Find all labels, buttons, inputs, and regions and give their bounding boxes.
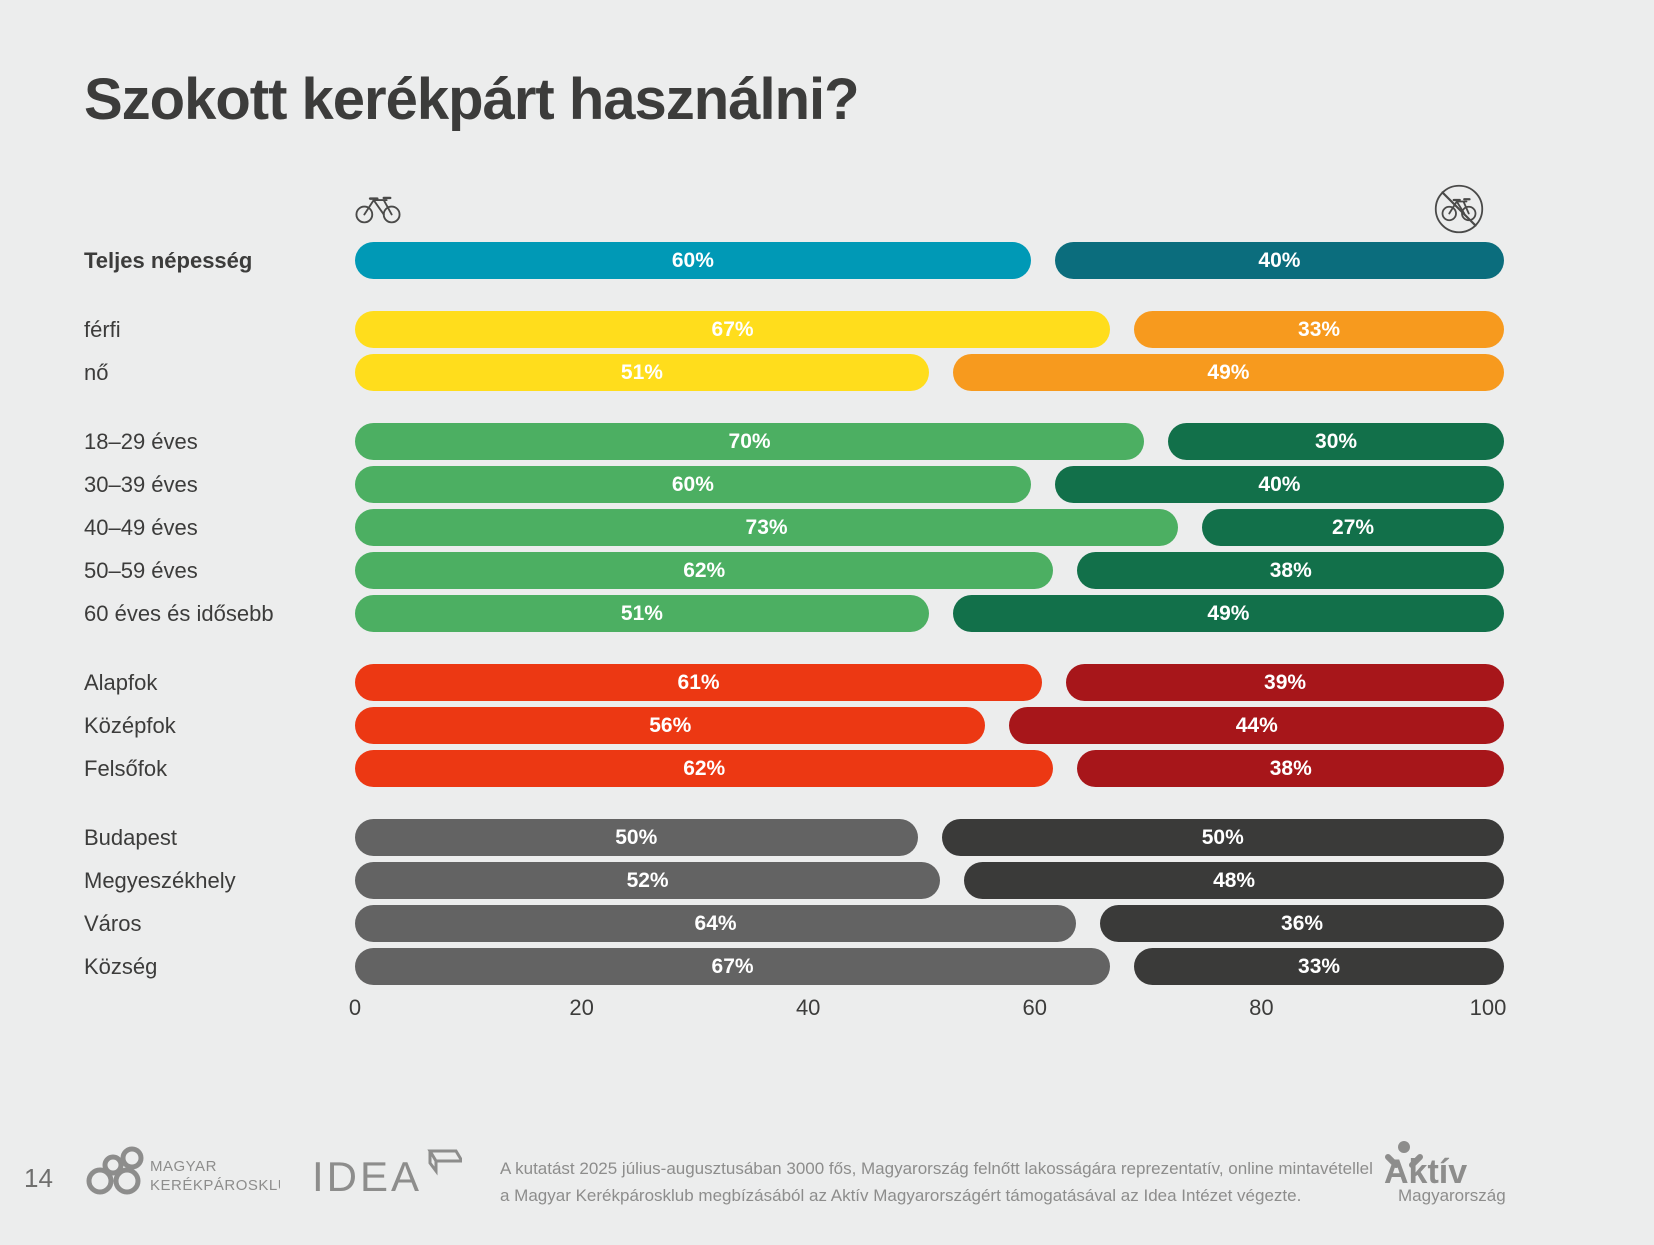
row-label-nem-1: nő xyxy=(84,354,346,391)
bicycle-icon xyxy=(355,189,401,227)
bar-rows: Teljes népesség60%40%férfi67%33%nő51%49%… xyxy=(84,242,1504,991)
page-title: Szokott kerékpárt használni? xyxy=(84,66,859,133)
bar-segment-no: 48% xyxy=(964,862,1504,899)
svg-text:MAGYAR: MAGYAR xyxy=(150,1158,217,1175)
stacked-bar: 60%40% xyxy=(355,466,1504,503)
bar-segment-yes: 61% xyxy=(355,664,1042,701)
x-axis-tick: 0 xyxy=(349,995,361,1021)
bar-segment-yes: 67% xyxy=(355,311,1110,348)
row-label-nem-0: férfi xyxy=(84,311,346,348)
stacked-bar: 62%38% xyxy=(355,552,1504,589)
bar-segment-no: 38% xyxy=(1077,750,1504,787)
row-label-eletkor-4: 60 éves és idősebb xyxy=(84,595,346,632)
bar-segment-no: 33% xyxy=(1134,311,1504,348)
page-number: 14 xyxy=(24,1163,53,1194)
bar-segment-no: 33% xyxy=(1134,948,1504,985)
idea-logo: IDEA xyxy=(312,1147,462,1201)
row-label-iskolai-vegzettseg-1: Középfok xyxy=(84,707,346,744)
row-label-eletkor-3: 50–59 éves xyxy=(84,552,346,589)
bar-segment-yes: 51% xyxy=(355,595,929,632)
stacked-bar: 56%44% xyxy=(355,707,1504,744)
bar-segment-no: 49% xyxy=(953,354,1504,391)
bar-segment-no: 30% xyxy=(1168,423,1504,460)
x-axis-tick: 100 xyxy=(1470,995,1507,1021)
x-axis-tick: 20 xyxy=(569,995,593,1021)
svg-text:Magyarország: Magyarország xyxy=(1398,1186,1506,1205)
bar-segment-yes: 64% xyxy=(355,905,1076,942)
bar-segment-no: 49% xyxy=(953,595,1504,632)
bar-segment-yes: 73% xyxy=(355,509,1178,546)
bar-segment-yes: 70% xyxy=(355,423,1144,460)
bar-segment-yes: 62% xyxy=(355,750,1053,787)
bar-row: nő51%49% xyxy=(84,354,1504,391)
bar-row: 30–39 éves60%40% xyxy=(84,466,1504,503)
bar-segment-no: 44% xyxy=(1009,707,1504,744)
stacked-bar: 62%38% xyxy=(355,750,1504,787)
bar-row: Megyeszékhely52%48% xyxy=(84,862,1504,899)
x-axis-tick: 60 xyxy=(1023,995,1047,1021)
stacked-bar: 60%40% xyxy=(355,242,1504,279)
bar-row: Középfok56%44% xyxy=(84,707,1504,744)
bar-row: Teljes népesség60%40% xyxy=(84,242,1504,279)
bar-row: 50–59 éves62%38% xyxy=(84,552,1504,589)
x-axis-tick: 40 xyxy=(796,995,820,1021)
bar-segment-no: 27% xyxy=(1202,509,1504,546)
stacked-bar: 52%48% xyxy=(355,862,1504,899)
row-label-eletkor-2: 40–49 éves xyxy=(84,509,346,546)
slide: Szokott kerékpárt használni? Telj xyxy=(0,0,1654,1245)
stacked-bar: 73%27% xyxy=(355,509,1504,546)
magyar-kerekparosklub-logo: MAGYAR KERÉKPÁROSKLUB xyxy=(80,1145,280,1201)
bar-segment-no: 36% xyxy=(1100,905,1504,942)
row-label-telepulestipus-0: Budapest xyxy=(84,819,346,856)
stacked-bar: 51%49% xyxy=(355,595,1504,632)
aktiv-magyarorszag-logo: Aktív Magyarország xyxy=(1372,1139,1532,1205)
footer: 14 MAGYAR KERÉKPÁROSKLUB IDEA xyxy=(0,1115,1654,1245)
bar-segment-yes: 52% xyxy=(355,862,940,899)
bar-row: Budapest50%50% xyxy=(84,819,1504,856)
bar-row: Község67%33% xyxy=(84,948,1504,985)
stacked-bar: 50%50% xyxy=(355,819,1504,856)
bar-segment-yes: 67% xyxy=(355,948,1110,985)
row-label-iskolai-vegzettseg-2: Felsőfok xyxy=(84,750,346,787)
row-label-iskolai-vegzettseg-0: Alapfok xyxy=(84,664,346,701)
bar-row: férfi67%33% xyxy=(84,311,1504,348)
chart-container: Teljes népesség60%40%férfi67%33%nő51%49%… xyxy=(84,180,1504,1010)
bar-row: 60 éves és idősebb51%49% xyxy=(84,595,1504,632)
bar-segment-no: 50% xyxy=(942,819,1505,856)
bar-segment-no: 38% xyxy=(1077,552,1504,589)
bar-segment-yes: 50% xyxy=(355,819,918,856)
stacked-bar: 70%30% xyxy=(355,423,1504,460)
stacked-bar: 64%36% xyxy=(355,905,1504,942)
stacked-bar: 51%49% xyxy=(355,354,1504,391)
bar-row: 18–29 éves70%30% xyxy=(84,423,1504,460)
x-axis: 020406080100 xyxy=(355,995,1488,1035)
stacked-bar: 67%33% xyxy=(355,311,1504,348)
disclaimer-line-2: a Magyar Kerékpárosklub megbízásából az … xyxy=(500,1182,1350,1209)
svg-text:KERÉKPÁROSKLUB: KERÉKPÁROSKLUB xyxy=(150,1177,280,1194)
svg-text:IDEA: IDEA xyxy=(312,1153,422,1200)
row-label-telepulestipus-2: Város xyxy=(84,905,346,942)
bar-row: Felsőfok62%38% xyxy=(84,750,1504,787)
bar-segment-yes: 51% xyxy=(355,354,929,391)
disclaimer-line-1: A kutatást 2025 július-augusztusában 300… xyxy=(500,1155,1350,1182)
bar-segment-yes: 60% xyxy=(355,466,1031,503)
disclaimer: A kutatást 2025 július-augusztusában 300… xyxy=(500,1155,1350,1209)
bar-segment-yes: 62% xyxy=(355,552,1053,589)
bar-segment-no: 40% xyxy=(1055,242,1504,279)
row-label-telepulestipus-1: Megyeszékhely xyxy=(84,862,346,899)
bar-row: Alapfok61%39% xyxy=(84,664,1504,701)
bar-segment-yes: 60% xyxy=(355,242,1031,279)
bar-segment-no: 40% xyxy=(1055,466,1504,503)
row-label-eletkor-1: 30–39 éves xyxy=(84,466,346,503)
bar-row: Város64%36% xyxy=(84,905,1504,942)
no-bicycle-icon xyxy=(1432,182,1486,236)
row-label-teljes-nepesseg-0: Teljes népesség xyxy=(84,242,346,279)
stacked-bar: 61%39% xyxy=(355,664,1504,701)
bar-segment-no: 39% xyxy=(1066,664,1504,701)
bar-row: 40–49 éves73%27% xyxy=(84,509,1504,546)
row-label-telepulestipus-3: Község xyxy=(84,948,346,985)
x-axis-tick: 80 xyxy=(1249,995,1273,1021)
stacked-bar: 67%33% xyxy=(355,948,1504,985)
row-label-eletkor-0: 18–29 éves xyxy=(84,423,346,460)
bar-segment-yes: 56% xyxy=(355,707,985,744)
